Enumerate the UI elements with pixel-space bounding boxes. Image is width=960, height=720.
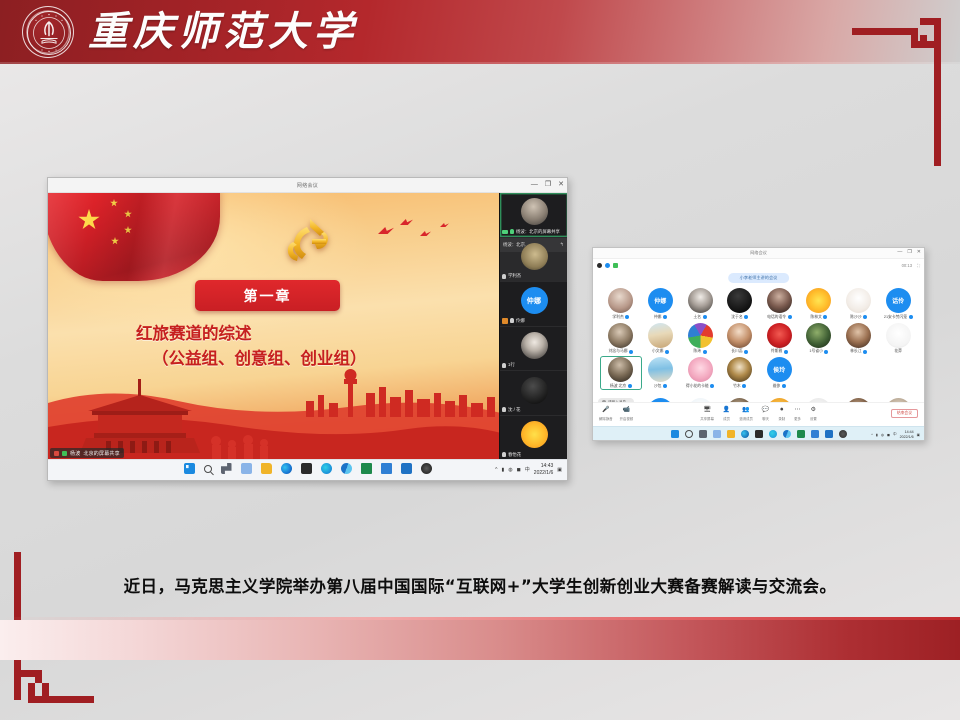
avatar-initials: 仲娜 — [654, 296, 666, 305]
gallery-cell[interactable]: 陈沙沙 — [839, 288, 879, 320]
microphone-icon — [510, 318, 514, 323]
gallery-cell[interactable]: 得小花的卡能 — [680, 357, 720, 389]
gallery-cell[interactable]: 陈林文 — [799, 288, 839, 320]
task-view-icon[interactable] — [221, 463, 232, 474]
meeting-title: 小李老师主讲的会议 — [740, 275, 778, 281]
participant-name-row: 伶娜 — [502, 318, 525, 324]
toolbar-button-participants[interactable]: 👤 成员 — [723, 407, 730, 421]
gallery-name-row: 长川蕊 — [731, 349, 748, 354]
chevron-up-icon[interactable]: ^ — [871, 433, 873, 437]
camera-icon: 📹 — [623, 407, 630, 414]
store-icon[interactable] — [301, 463, 312, 474]
participant-name: 刘念与马娜 — [609, 349, 628, 354]
avatar-initials: 仲娜 — [527, 296, 541, 306]
microphone-icon — [510, 229, 514, 234]
gallery-name-row: 沙包 — [654, 384, 667, 389]
gallery-name-row: 电话的语令 — [767, 315, 791, 320]
gallery-cell-selected[interactable]: 杨波 北京 — [601, 357, 641, 389]
close-icon[interactable]: ✕ — [917, 249, 921, 256]
invite-icon: 👥 — [742, 407, 749, 414]
gallery-cell[interactable]: 沙包 — [641, 357, 681, 389]
header-band: 重庆师范大学 — [0, 0, 960, 64]
gallery-name-row: 得小花的卡能 — [686, 384, 714, 389]
microphone-icon — [703, 315, 707, 319]
ime-indicator[interactable]: 中 — [893, 432, 897, 437]
taskbar-system-tray[interactable]: ^ ▮ ◍ ◼ 中 14:43 2022/1/6 ▣ — [495, 463, 562, 476]
gallery-name-row: 21安卡劳闪笼 — [884, 315, 913, 320]
flag-star-small-3 — [124, 226, 132, 234]
gallery-cell[interactable]: 仲娜 仲娜 — [641, 288, 681, 320]
toolbar-button-label: 录制 — [778, 416, 785, 421]
microphone-icon — [62, 451, 67, 456]
participant-name: 电话的语令 — [767, 315, 786, 320]
flag-star-small-2 — [124, 210, 132, 218]
gallery-cell[interactable]: 学利杰 — [601, 288, 641, 320]
toolbar-button-label: 开启视频 — [620, 416, 634, 421]
meeting-icon[interactable] — [401, 463, 412, 474]
toolbar-center-group[interactable]: 🖥 共享屏幕 👤 成员 👥 邀请成员 💬 聊天 ⏺ 录制 — [700, 407, 816, 421]
meeting-title-pill: 小李老师主讲的会议 — [728, 273, 790, 283]
gallery-cell[interactable]: 林长江 — [839, 323, 879, 355]
taskbar-clock[interactable]: 14:44 2022/1/6 — [900, 430, 914, 439]
participant-name-row: 春怡花 — [502, 452, 521, 458]
wps-icon[interactable] — [811, 430, 819, 438]
gallery-cell[interactable]: 话伶 21安卡劳闪笼 — [878, 288, 918, 320]
recorder-icon[interactable] — [839, 430, 847, 438]
avatar — [688, 288, 713, 313]
minimize-icon[interactable]: — — [897, 249, 902, 256]
microphone-icon — [909, 315, 913, 319]
avatar: 话伶 — [886, 288, 911, 313]
shot2-window-title: 网络会议 — [750, 250, 767, 256]
network-icon[interactable]: ◍ — [881, 433, 884, 437]
microphone-icon — [665, 350, 669, 354]
gallery-cell[interactable]: 长川蕊 — [720, 323, 760, 355]
participant-tile[interactable]: 沈 / 花 — [500, 371, 568, 416]
toolbar-left-group[interactable]: 🎤 解除静音 📹 开启视频 — [599, 407, 633, 421]
toolbar-button-mute[interactable]: 🎤 解除静音 — [599, 407, 613, 421]
store-icon[interactable] — [755, 430, 763, 438]
avatar — [767, 288, 792, 313]
meeting-duration: 00:13 — [902, 263, 912, 268]
toolbar-button-share-screen[interactable]: 🖥 共享屏幕 — [700, 407, 714, 421]
participant-tile[interactable]: 1行 — [500, 327, 568, 372]
china-flag-graphic — [48, 193, 220, 281]
slide-chapter-label: 第一章 — [244, 286, 292, 306]
gallery-name-row: 伶斯雅 — [771, 349, 788, 354]
maximize-icon[interactable]: ❐ — [545, 180, 551, 189]
participant-name: 陈沙沙 — [850, 315, 861, 320]
microphone-icon — [502, 363, 506, 368]
shot2-status-bar: 00:13 ⛶ — [593, 259, 924, 271]
toolbar-button-record[interactable]: ⏺ 录制 — [778, 407, 785, 421]
microphone-icon — [625, 315, 629, 319]
toolbar-button-label: 成员 — [723, 416, 730, 421]
university-name: 重庆师范大学 — [88, 4, 358, 60]
avatar — [608, 323, 633, 348]
search-icon[interactable] — [685, 430, 693, 438]
recorder-icon[interactable] — [421, 463, 432, 474]
meeting-icon[interactable] — [825, 430, 833, 438]
gallery-name-row: 陈玮 — [694, 349, 707, 354]
avatar — [648, 357, 673, 382]
participant-name-row: 杨波：北京的屏幕共享 — [502, 229, 560, 235]
gallery-cell[interactable]: 土名 — [680, 288, 720, 320]
share-label-text: 北京的屏幕共享 — [83, 450, 119, 457]
participant-name: 沙包 — [654, 384, 662, 389]
participant-tile[interactable]: 杨波：北京的屏幕共享 — [500, 193, 568, 238]
microphone-icon — [663, 315, 667, 319]
participant-name: 土名 — [694, 315, 702, 320]
participant-name: 沈于名 — [731, 315, 742, 320]
gallery-name-row: 竹木 — [733, 384, 746, 389]
avatar: 仲娜 — [521, 287, 548, 314]
shared-screen-stage: 第一章 红旅赛道的综述 （公益组、创意组、创业组） — [48, 193, 501, 461]
edge-icon[interactable] — [741, 430, 749, 438]
minimize-icon[interactable]: — — [531, 180, 538, 189]
gallery-name-row: 陈林文 — [810, 315, 827, 320]
bottom-band — [0, 620, 960, 660]
clock-date: 2022/1/6 — [900, 435, 914, 440]
taskbar-icon-group[interactable] — [184, 463, 432, 474]
volume-icon[interactable]: ◼ — [887, 433, 890, 437]
bird-graphic-3 — [420, 231, 431, 236]
avatar — [806, 323, 831, 348]
participant-name: 伶斯雅 — [771, 349, 782, 354]
microphone-icon — [782, 384, 786, 388]
collapse-icon[interactable]: ↰ — [560, 242, 564, 248]
share-screen-icon: 🖥 — [703, 407, 711, 414]
info-icon[interactable] — [605, 263, 610, 268]
microphone-icon — [663, 384, 667, 388]
gallery-cell[interactable]: 伶斯雅 — [760, 323, 800, 355]
task-view-icon[interactable] — [699, 430, 707, 438]
battery-icon[interactable]: ▮ — [876, 433, 878, 437]
shot2-windows-taskbar[interactable]: ^ ▮ ◍ ◼ 中 14:44 2022/1/6 ▣ — [593, 426, 924, 440]
microphone-icon — [863, 350, 867, 354]
microphone-icon — [742, 384, 746, 388]
end-meeting-button[interactable]: 结束会议 — [891, 409, 918, 418]
avatar — [727, 357, 752, 382]
avatar: 仲娜 — [648, 288, 673, 313]
microphone-icon — [784, 350, 788, 354]
moon-browser-icon[interactable] — [783, 430, 791, 438]
participant-name: 竹木 — [733, 384, 741, 389]
toolbar-button-label: 共享屏幕 — [700, 416, 714, 421]
shot2-window-controls[interactable]: — ❐ ✕ — [897, 249, 921, 256]
gallery-name-row: 小文娜 — [652, 349, 669, 354]
gallery-cell[interactable]: 沈于名 — [720, 288, 760, 320]
avatar — [521, 421, 548, 448]
microphone-icon — [710, 384, 714, 388]
gallery-name-row: 林长江 — [850, 349, 867, 354]
status-icon-group[interactable] — [597, 263, 618, 268]
microphone-icon — [824, 350, 828, 354]
avatar — [688, 357, 713, 382]
gallery-cell[interactable]: 小文娜 — [641, 323, 681, 355]
participant-tile[interactable]: 杨波：北京… ↰ 学利杰 — [500, 238, 568, 283]
shot2-titlebar: 网络会议 — ❐ ✕ — [593, 248, 924, 259]
avatar — [688, 323, 713, 348]
gallery-cell[interactable]: 刘念与马娜 — [601, 323, 641, 355]
avatar — [608, 288, 633, 313]
screenshot-gallery-meeting: 网络会议 — ❐ ✕ 00:13 ⛶ 小李老师主讲的会议 — [592, 247, 925, 441]
avatar — [727, 288, 752, 313]
gallery-name-row: 花莽 — [894, 349, 902, 354]
excel-icon[interactable] — [361, 463, 372, 474]
microphone-icon — [502, 452, 506, 457]
participant-name: 学利杰 — [612, 315, 623, 320]
avatar-initials: 侯玲 — [773, 365, 785, 374]
gallery-name-row: 陈沙沙 — [850, 315, 867, 320]
signal-icon[interactable] — [613, 263, 618, 268]
search-icon[interactable] — [204, 465, 212, 473]
avatar-initials: 话伶 — [892, 296, 904, 305]
edge-icon[interactable] — [281, 463, 292, 474]
microphone-icon — [788, 315, 792, 319]
gallery-name-row: 杨波 北京 — [610, 384, 632, 389]
gallery-cell[interactable]: 花莽 — [878, 323, 918, 355]
gallery-name-row: 仲娜 — [654, 315, 667, 320]
gallery-name-row: 土名 — [694, 315, 707, 320]
taskbar-icon-group[interactable] — [671, 430, 847, 438]
start-icon[interactable] — [184, 463, 195, 474]
avatar — [886, 323, 911, 348]
toolbar-button-more[interactable]: ⋯ 更多 — [794, 407, 801, 421]
presentation-slide: 重庆师范大学 网络会议 — ❐ ✕ — [0, 0, 960, 720]
university-seal-icon — [22, 6, 74, 58]
microphone-icon — [744, 315, 748, 319]
record-icon: ⏺ — [780, 407, 783, 414]
microphone-icon — [863, 315, 867, 319]
shot1-body: 第一章 红旅赛道的综述 （公益组、创意组、创业组） — [48, 193, 567, 461]
participant-tile[interactable]: 仲娜 伶娜 — [500, 282, 568, 327]
widgets-icon[interactable] — [713, 430, 721, 438]
bird-graphic-2 — [400, 219, 413, 225]
participant-name: 杨波 北京 — [610, 384, 626, 389]
widgets-icon[interactable] — [241, 463, 252, 474]
microphone-icon: 🎤 — [602, 407, 609, 414]
avatar — [521, 198, 548, 225]
toolbar-button-label: 聊天 — [762, 416, 769, 421]
browser-icon[interactable] — [769, 430, 777, 438]
notification-icon[interactable]: ▣ — [557, 467, 562, 473]
avatar — [521, 243, 548, 270]
participant-name: 学利杰 — [508, 273, 521, 279]
camera-icon — [502, 230, 508, 234]
gallery-cell[interactable]: 陈玮 — [680, 323, 720, 355]
maximize-icon[interactable]: ❐ — [907, 249, 911, 256]
bird-graphic-1 — [378, 227, 394, 234]
meeting-duration-group[interactable]: 00:13 ⛶ — [902, 263, 920, 268]
volume-icon[interactable]: ◼ — [517, 467, 521, 473]
pin-icon[interactable] — [502, 318, 508, 324]
participant-name-row: 学利杰 — [502, 273, 521, 279]
shot1-window-controls[interactable]: — ❐ ✕ — [531, 180, 564, 189]
moon-browser-icon[interactable] — [341, 463, 352, 474]
slide-heading-line1: 红旅赛道的综述 — [136, 324, 252, 343]
grid-layout-icon[interactable]: ⛶ — [917, 263, 920, 268]
toolbar-button-settings[interactable]: ⚙ 设置 — [810, 407, 817, 421]
shot1-windows-taskbar[interactable]: ^ ▮ ◍ ◼ 中 14:43 2022/1/6 ▣ — [48, 459, 567, 480]
gallery-name-row: 维侈 — [773, 384, 786, 389]
participant-name: 林长江 — [850, 349, 861, 354]
participant-name: 伶娜 — [516, 318, 525, 324]
shot1-titlebar: 网络会议 — ❐ ✕ — [48, 178, 567, 193]
gallery-name-row: 学利杰 — [612, 315, 629, 320]
participant-name: 1号省小 — [809, 349, 823, 354]
avatar — [648, 323, 673, 348]
clock-date: 2022/1/6 — [534, 470, 553, 477]
participant-name: 沈 / 花 — [508, 407, 520, 413]
participant-name: 春怡花 — [508, 452, 521, 458]
notification-icon[interactable]: ▣ — [917, 433, 920, 437]
microphone-icon — [502, 274, 506, 279]
participant-name: 仲娜 — [654, 315, 662, 320]
taskbar-clock[interactable]: 14:43 2022/1/6 — [534, 463, 553, 476]
microphone-icon — [823, 315, 827, 319]
browser-icon[interactable] — [321, 463, 332, 474]
chevron-up-icon[interactable]: ^ — [495, 467, 497, 473]
network-icon[interactable]: ◍ — [508, 467, 512, 473]
wps-icon[interactable] — [381, 463, 392, 474]
avatar: 侯玲 — [767, 357, 792, 382]
file-explorer-icon[interactable] — [261, 463, 272, 474]
avatar — [806, 288, 831, 313]
clock-time: 14:43 — [534, 463, 553, 470]
screen-icon — [54, 451, 59, 456]
start-icon[interactable] — [671, 430, 679, 438]
shot1-window-title: 网络会议 — [297, 182, 318, 189]
participant-tile[interactable]: 春怡花 — [500, 416, 568, 461]
flag-star-large — [78, 209, 100, 231]
avatar — [767, 323, 792, 348]
microphone-icon — [628, 384, 632, 388]
gallery-cell[interactable]: 1号省小 — [799, 323, 839, 355]
tiananmen-gate-graphic — [80, 379, 200, 453]
microphone-icon — [744, 350, 748, 354]
party-emblem-icon — [280, 215, 338, 265]
toolbar-button-label: 设置 — [810, 416, 817, 421]
avatar — [521, 332, 548, 359]
excel-icon[interactable] — [797, 430, 805, 438]
participant-name: 小文娜 — [652, 349, 663, 354]
close-icon[interactable]: ✕ — [558, 180, 564, 189]
toolbar-button-label: 解除静音 — [599, 416, 613, 421]
caption-area: 近日，马克思主义学院举办第八届中国国际“互联网+”大学生创新创业大赛备赛解读与交… — [0, 562, 960, 608]
presenter-name: 杨波 — [70, 450, 80, 457]
toolbar-button-video[interactable]: 📹 开启视频 — [620, 407, 634, 421]
caption-text: 近日，马克思主义学院举办第八届中国国际“互联网+”大学生创新创业大赛备赛解读与交… — [124, 573, 837, 597]
microphone-icon — [629, 350, 633, 354]
avatar — [846, 288, 871, 313]
gallery-cell[interactable]: 竹木 — [720, 357, 760, 389]
file-explorer-icon[interactable] — [727, 430, 735, 438]
participants-icon: 👤 — [723, 407, 730, 414]
participant-name: 长川蕊 — [731, 349, 742, 354]
bird-graphic-4 — [440, 223, 449, 227]
gallery-name-row: 刘念与马娜 — [609, 349, 633, 354]
toolbar-button-label: 更多 — [794, 416, 801, 421]
gallery-name-row: 1号省小 — [809, 349, 828, 354]
participant-rail[interactable]: 杨波：北京的屏幕共享 杨波：北京… ↰ 学利杰 — [499, 193, 567, 461]
avatar — [846, 323, 871, 348]
participant-name: 杨波：北京的屏幕共享 — [516, 229, 560, 235]
participant-name: 得小花的卡能 — [686, 384, 709, 389]
participant-name-row: 1行 — [502, 362, 515, 368]
gallery-name-row: 沈于名 — [731, 315, 748, 320]
gallery-cell[interactable]: 电话的语令 — [760, 288, 800, 320]
gear-icon: ⚙ — [811, 407, 816, 414]
taskbar-system-tray[interactable]: ^ ▮ ◍ ◼ 中 14:44 2022/1/6 ▣ — [871, 430, 920, 439]
participant-name: 1行 — [508, 362, 515, 368]
shield-icon[interactable] — [597, 263, 602, 268]
microphone-icon — [502, 407, 506, 412]
gallery-cell[interactable]: 侯玲 维侈 — [760, 357, 800, 389]
more-icon: ⋯ — [795, 407, 801, 414]
corner-ornament-top-right — [852, 10, 948, 166]
meeting-toolbar[interactable]: 🎤 解除静音 📹 开启视频 🖥 共享屏幕 👤 成员 👥 — [593, 402, 924, 426]
avatar — [521, 377, 548, 404]
screen-share-presenter-label: 杨波 北京的屏幕共享 — [50, 448, 124, 458]
flag-star-small-4 — [111, 237, 119, 245]
participant-name: 维侈 — [773, 384, 781, 389]
participant-name: 花莽 — [894, 349, 902, 354]
participant-name-row: 沈 / 花 — [502, 407, 520, 413]
participant-name: 陈玮 — [694, 349, 702, 354]
ime-indicator[interactable]: 中 — [525, 466, 530, 473]
flag-star-small-1 — [110, 199, 118, 207]
end-meeting-label: 结束会议 — [897, 411, 912, 416]
skyline-silhouette-graphic — [48, 349, 501, 461]
avatar — [608, 357, 633, 382]
toolbar-button-label: 邀请成员 — [739, 416, 753, 421]
avatar — [727, 323, 752, 348]
participant-name: 陈林文 — [810, 315, 821, 320]
slide-chapter-badge: 第一章 — [195, 280, 340, 311]
participant-name: 21安卡劳闪笼 — [884, 315, 907, 320]
microphone-icon — [703, 350, 707, 354]
toolbar-button-chat[interactable]: 💬 聊天 — [762, 407, 769, 421]
battery-icon[interactable]: ▮ — [501, 467, 504, 473]
chat-icon: 💬 — [762, 407, 769, 414]
toolbar-button-invite[interactable]: 👥 邀请成员 — [739, 407, 753, 421]
participant-gallery-grid[interactable]: 学利杰 仲娜 仲娜 土名 — [601, 288, 918, 389]
screenshot-shared-screen-meeting: 网络会议 — ❐ ✕ — [47, 177, 568, 481]
